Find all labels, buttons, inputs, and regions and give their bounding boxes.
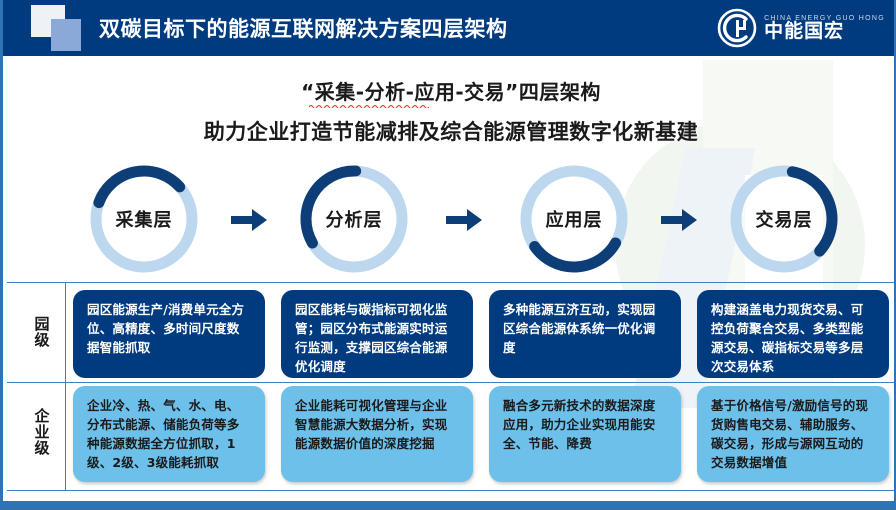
four-layer-flow-row: 采集层分析层应用层交易层 — [3, 160, 896, 278]
brand-name-cn: 中能国宏 — [764, 22, 885, 42]
flow-node-label: 应用层 — [515, 160, 633, 278]
matrix-top-rule — [7, 282, 895, 283]
row-label-enterprise: 企业级 — [25, 392, 59, 472]
matrix-cell: 园区能耗与碳指标可视化监管；园区分布式能源实时运行监测，支撑园区综合能源优化调度 — [281, 290, 473, 378]
subtitle-line-2: 助力企业打造节能减排及综合能源管理数字化新基建 — [3, 116, 896, 146]
matrix-bottom-rule — [7, 490, 895, 491]
flow-node: 应用层 — [515, 160, 633, 278]
right-arrow-icon — [229, 207, 269, 233]
footer-bar — [3, 501, 896, 510]
header-bar: 双碳目标下的能源互联网解决方案四层架构 CHINA ENERGY GUO HON… — [3, 0, 896, 56]
brand-logo-text: CHINA ENERGY GUO HONG 中能国宏 — [764, 15, 885, 42]
right-arrow-icon — [659, 207, 699, 233]
matrix-mid-rule — [7, 382, 895, 383]
subtitle-line-1: “采集-分析-应用-交易”四层架构 — [301, 76, 601, 105]
flow-node-label: 采集层 — [85, 160, 203, 278]
subtitle-block: “采集-分析-应用-交易”四层架构 助力企业打造节能减排及综合能源管理数字化新基… — [3, 76, 896, 146]
decor-square-blue — [51, 19, 81, 51]
slide-canvas: 双碳目标下的能源互联网解决方案四层架构 CHINA ENERGY GUO HON… — [0, 0, 896, 510]
flow-node: 分析层 — [295, 160, 413, 278]
spellcheck-squiggle-icon — [309, 104, 429, 108]
brand-logo: CHINA ENERGY GUO HONG 中能国宏 — [717, 8, 885, 48]
matrix-cell: 构建涵盖电力现货交易、可控负荷聚合交易、多类型能源交易、碳指标交易等多层次交易体… — [697, 290, 889, 378]
guohong-circle-g-logo-icon — [717, 8, 757, 48]
matrix-cell: 融合多元新技术的数据深度应用，助力企业实现用能安全、节能、降费 — [489, 386, 681, 482]
two-squares-decor-icon — [31, 5, 93, 51]
flow-node-label: 分析层 — [295, 160, 413, 278]
flow-node: 交易层 — [725, 160, 843, 278]
matrix-cell: 企业能耗可视化管理与企业智慧能源大数据分析，实现能源数据价值的深度挖掘 — [281, 386, 473, 482]
matrix-cell: 多种能源互济互动，实现园区综合能源体系统一优化调度 — [489, 290, 681, 378]
matrix-label-divider — [65, 282, 66, 490]
matrix-cell: 企业冷、热、气、水、电、分布式能源、储能负荷等多种能源数据全方位抓取，1级、2级… — [73, 386, 265, 482]
row-label-park: 园级 — [25, 302, 59, 362]
flow-node: 采集层 — [85, 160, 203, 278]
matrix-cell: 基于价格信号/激励信号的现货购售电交易、辅助服务、碳交易，形成与源网互动的交易数… — [697, 386, 889, 482]
matrix-cell: 园区能源生产/消费单元全方位、高精度、多时间尺度数据智能抓取 — [73, 290, 265, 378]
page-title: 双碳目标下的能源互联网解决方案四层架构 — [99, 13, 508, 43]
flow-node-label: 交易层 — [725, 160, 843, 278]
subtitle-line-1-text: “采集-分析-应用-交易”四层架构 — [301, 80, 601, 104]
right-arrow-icon — [444, 207, 484, 233]
layer-detail-matrix: 园级 企业级 园区能源生产/消费单元全方位、高精度、多时间尺度数据智能抓取 园区… — [3, 282, 896, 492]
